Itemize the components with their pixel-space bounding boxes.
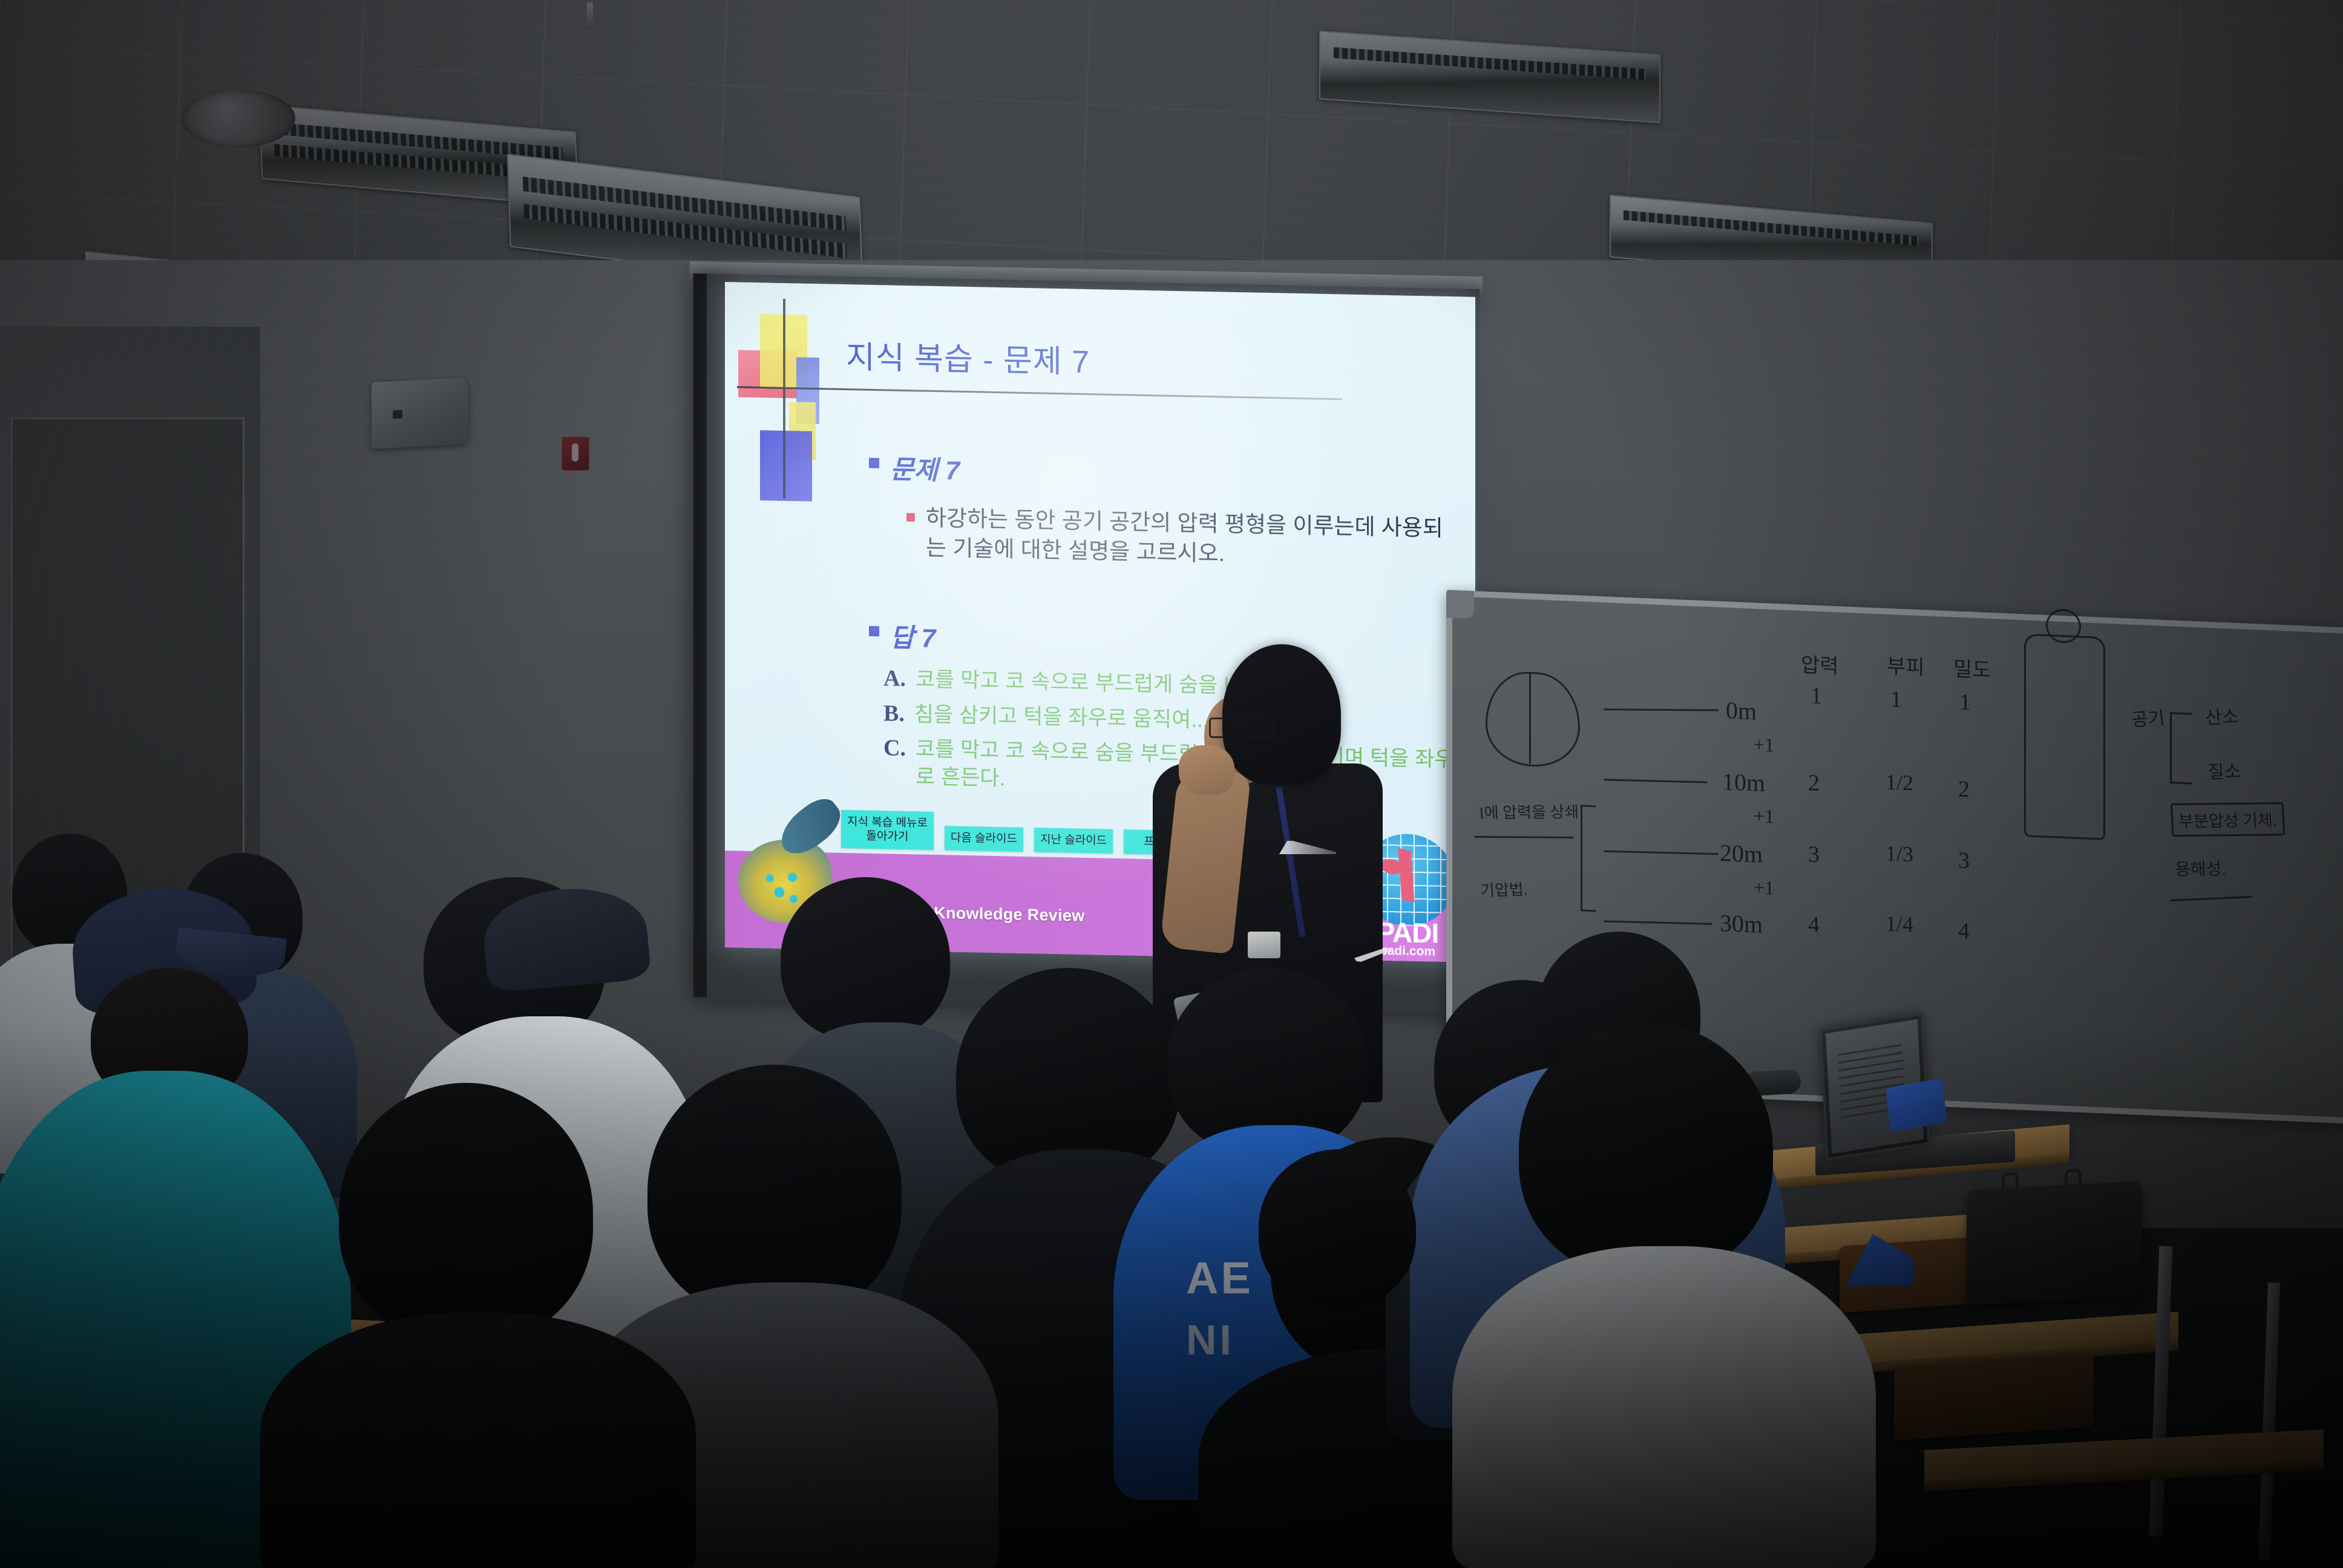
glasses-lens bbox=[1209, 717, 1239, 738]
depth-label-10m: 10m bbox=[1722, 767, 1765, 797]
depth-line bbox=[1604, 779, 1708, 783]
classroom-photo: 지식 복습 - 문제 7 문제 7 하강하는 동안 공기 공간의 압력 평형을 … bbox=[0, 0, 2343, 1568]
deco-vertical-line bbox=[783, 299, 785, 498]
student-head bbox=[1259, 1149, 1416, 1307]
cell-density-0m: 1 bbox=[1959, 689, 1971, 716]
lungs-drawing bbox=[1486, 670, 1580, 769]
ceiling-speaker-icon bbox=[182, 90, 295, 148]
nav-button-previous-slide[interactable]: 지난 슬라이드 bbox=[1034, 828, 1113, 854]
depth-line bbox=[1604, 920, 1712, 924]
nav-button-next-slide[interactable]: 다음 슬라이드 bbox=[945, 826, 1023, 852]
depth-line bbox=[1604, 851, 1719, 855]
cell-pressure-30m: 4 bbox=[1808, 911, 1820, 938]
presenter-head bbox=[1222, 644, 1341, 785]
increment-mark: +1 bbox=[1754, 805, 1774, 828]
bullet-square-red-icon bbox=[906, 513, 915, 521]
depth-label-30m: 30m bbox=[1720, 909, 1763, 939]
question-label-row: 문제 7 bbox=[869, 448, 960, 488]
slide-title-text: 지식 복습 - 문제 7 bbox=[846, 340, 1090, 380]
option-letter: A. bbox=[883, 665, 906, 692]
depth-line bbox=[1604, 708, 1719, 711]
cell-density-10m: 2 bbox=[1958, 776, 1970, 803]
whiteboard-corner bbox=[1446, 590, 1474, 619]
scuba-tank-drawing bbox=[2024, 633, 2105, 840]
cell-volume-20m: 1/3 bbox=[1886, 840, 1913, 867]
desk-leg bbox=[2258, 1282, 2280, 1561]
whiteboard-note-air: 공기 bbox=[2130, 703, 2166, 731]
wall-speaker-icon bbox=[372, 377, 468, 449]
answer-option-a: A. 코를 막고 코 속으로 부드럽게 숨을 내쉰다. bbox=[883, 665, 1458, 704]
depth-label-20m: 20m bbox=[1720, 838, 1763, 869]
whiteboard-note-left-2: 기압법. bbox=[1480, 877, 1529, 901]
answer-option-b: B. 침을 삼키고 턱을 좌우로 움직여... bbox=[883, 700, 1458, 739]
jersey-text-line1: AE bbox=[1186, 1252, 1253, 1304]
whiteboard-note-left-1: I에 압력을 상쇄 bbox=[1478, 800, 1579, 823]
question-label: 문제 7 bbox=[890, 448, 960, 487]
option-text: 침을 삼키고 턱을 좌우로 움직여... bbox=[914, 701, 1209, 734]
cell-pressure-0m: 1 bbox=[1810, 682, 1822, 710]
glasses-icon bbox=[1209, 717, 1274, 736]
cell-density-20m: 3 bbox=[1958, 847, 1970, 874]
brace-mark bbox=[2170, 712, 2192, 785]
option-letter: C. bbox=[883, 734, 906, 762]
cell-density-30m: 4 bbox=[1958, 917, 1970, 944]
student-head bbox=[339, 1083, 593, 1343]
depth-label-0m: 0m bbox=[1726, 696, 1757, 725]
column-header-density: 밀도 bbox=[1953, 652, 1991, 684]
whiteboard-note-solubility: 용해성. bbox=[2174, 856, 2226, 881]
cell-volume-0m: 1 bbox=[1890, 686, 1902, 713]
glasses-lens bbox=[1244, 717, 1274, 738]
cell-volume-30m: 1/4 bbox=[1886, 910, 1913, 937]
cell-pressure-20m: 3 bbox=[1808, 841, 1820, 868]
jersey-text-line2: NI bbox=[1186, 1316, 1234, 1364]
student-torso-white-shirt bbox=[1452, 1246, 1876, 1568]
bullet-square-icon bbox=[869, 458, 879, 468]
light-louver bbox=[1334, 47, 1645, 80]
nav-button-back-to-menu[interactable]: 지식 복습 메뉴로 돌아가기 bbox=[841, 809, 934, 850]
whiteboard-note-oxygen: 산소 bbox=[2204, 701, 2240, 729]
answer-label-row: 답 7 bbox=[869, 616, 936, 655]
slide-nav-buttons[interactable]: 지식 복습 메뉴로 돌아가기 다음 슬라이드 지난 슬라이드 프로... bbox=[841, 809, 1194, 855]
deco-horizontal-rule bbox=[737, 386, 1342, 400]
underline bbox=[2170, 896, 2252, 901]
whiteboard-note-nitrogen: 질소 bbox=[2207, 756, 2242, 784]
student-head bbox=[1519, 1022, 1773, 1276]
sprinkler-icon bbox=[587, 2, 593, 30]
deco-square-blue-large bbox=[760, 430, 812, 501]
bullet-square-icon bbox=[869, 626, 879, 636]
brace-mark bbox=[1581, 805, 1596, 912]
question-text-row: 하강하는 동안 공기 공간의 압력 평형을 이루는데 사용되는 기술에 대한 설… bbox=[906, 503, 1451, 573]
column-header-pressure: 압력 bbox=[1801, 648, 1839, 680]
option-letter: B. bbox=[883, 700, 905, 727]
column-header-volume: 부피 bbox=[1887, 650, 1925, 681]
screen-left-border bbox=[693, 273, 707, 997]
student-head bbox=[781, 877, 950, 1040]
whiteboard-note-partial-pressure: 부분압성 기체. bbox=[2171, 802, 2285, 837]
increment-mark: +1 bbox=[1754, 733, 1774, 756]
bag bbox=[1967, 1181, 2142, 1305]
presenter-hand bbox=[1179, 745, 1234, 795]
slide-title: 지식 복습 - 문제 7 bbox=[846, 332, 1090, 382]
cell-volume-10m: 1/2 bbox=[1886, 769, 1913, 795]
cell-pressure-10m: 2 bbox=[1808, 769, 1820, 797]
answer-label: 답 7 bbox=[890, 616, 936, 655]
fire-alarm-icon bbox=[562, 437, 589, 471]
student-head bbox=[647, 1065, 902, 1319]
id-badge bbox=[1248, 932, 1280, 958]
chair-back bbox=[1894, 1354, 2094, 1440]
underline bbox=[1474, 836, 1574, 838]
increment-mark: +1 bbox=[1754, 876, 1774, 899]
desk-leg bbox=[2149, 1246, 2173, 1537]
student-torso bbox=[260, 1313, 696, 1568]
question-text: 하강하는 동안 공기 공간의 압력 평형을 이루는데 사용되는 기술에 대한 설… bbox=[926, 504, 1451, 573]
